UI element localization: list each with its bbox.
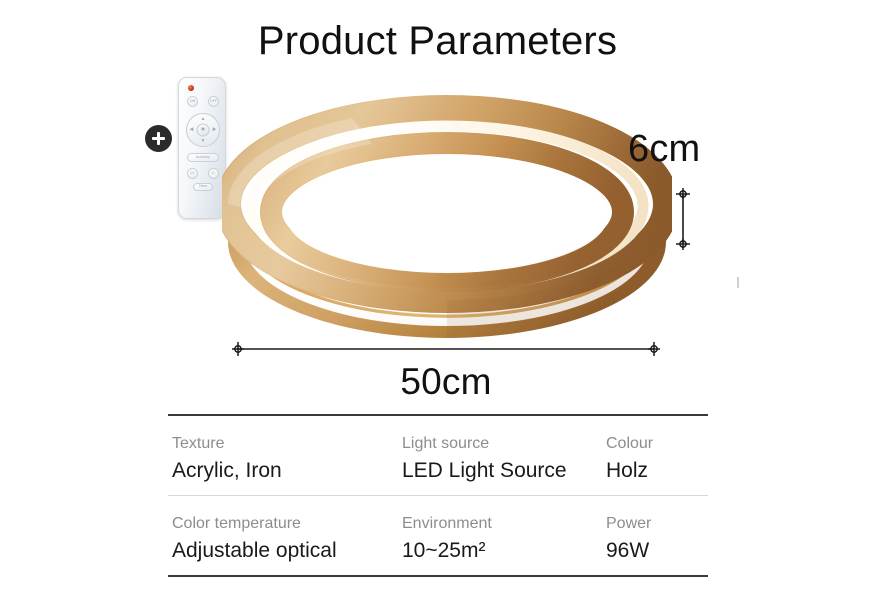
remote-off-button[interactable]: OFF [208,96,219,107]
remote-timer-button[interactable]: Timer [193,183,213,191]
product-image-ceiling-lamp [222,92,672,344]
spec-value: 10~25m² [388,538,604,563]
remote-control: ON OFF ▲ ▼ ◀ ▶ ☀ Auxiliary C+ C- Timer [178,77,226,219]
product-parameters-page: Product Parameters ON OFF ▲ ▼ ◀ ▶ ☀ Auxi… [0,0,875,600]
remote-arrow-down-icon[interactable]: ▼ [201,139,206,144]
spec-label: Color temperature [172,514,386,533]
remote-auxiliary-button[interactable]: Auxiliary [187,153,219,162]
remote-dpad[interactable]: ▲ ▼ ◀ ▶ ☀ [186,113,220,147]
remote-led-indicator [188,85,194,91]
remote-arrow-right-icon[interactable]: ▶ [213,128,217,133]
spec-label: Colour [606,434,708,453]
spec-cell-power: Power 96W [604,514,708,563]
image-artifact-mark [737,277,739,288]
spec-cell-light-source: Light source LED Light Source [386,434,604,483]
table-row: Color temperature Adjustable optical Env… [168,496,708,575]
spec-value: LED Light Source [388,458,604,483]
remote-on-button[interactable]: ON [187,96,198,107]
spec-table: Texture Acrylic, Iron Light source LED L… [168,414,708,577]
page-title: Product Parameters [0,18,875,64]
spec-table-bottom-rule [168,575,708,577]
spec-label: Power [606,514,708,533]
spec-cell-environment: Environment 10~25m² [386,514,604,563]
remote-mode-left-button[interactable]: C+ [187,168,198,179]
spec-value: 96W [606,538,708,563]
spec-cell-texture: Texture Acrylic, Iron [168,434,386,483]
spec-cell-colour: Colour Holz [604,434,708,483]
spec-cell-color-temperature: Color temperature Adjustable optical [168,514,386,563]
remote-arrow-left-icon[interactable]: ◀ [190,128,194,133]
dimension-width-line [228,340,664,358]
spec-value: Acrylic, Iron [172,458,386,483]
dimension-height-label: 6cm [628,127,700,171]
remote-brightness-icon[interactable]: ☀ [197,124,210,137]
dimension-height-line [668,186,698,252]
table-row: Texture Acrylic, Iron Light source LED L… [168,416,708,495]
plus-badge-icon [145,125,172,152]
remote-arrow-up-icon[interactable]: ▲ [201,117,206,122]
spec-value: Holz [606,458,708,483]
remote-body: ON OFF ▲ ▼ ◀ ▶ ☀ Auxiliary C+ C- Timer [178,77,226,219]
spec-label: Environment [388,514,604,533]
spec-label: Light source [388,434,604,453]
remote-mode-right-button[interactable]: C- [208,168,219,179]
spec-value: Adjustable optical [172,538,386,563]
spec-label: Texture [172,434,386,453]
dimension-width-label: 50cm [228,360,664,404]
